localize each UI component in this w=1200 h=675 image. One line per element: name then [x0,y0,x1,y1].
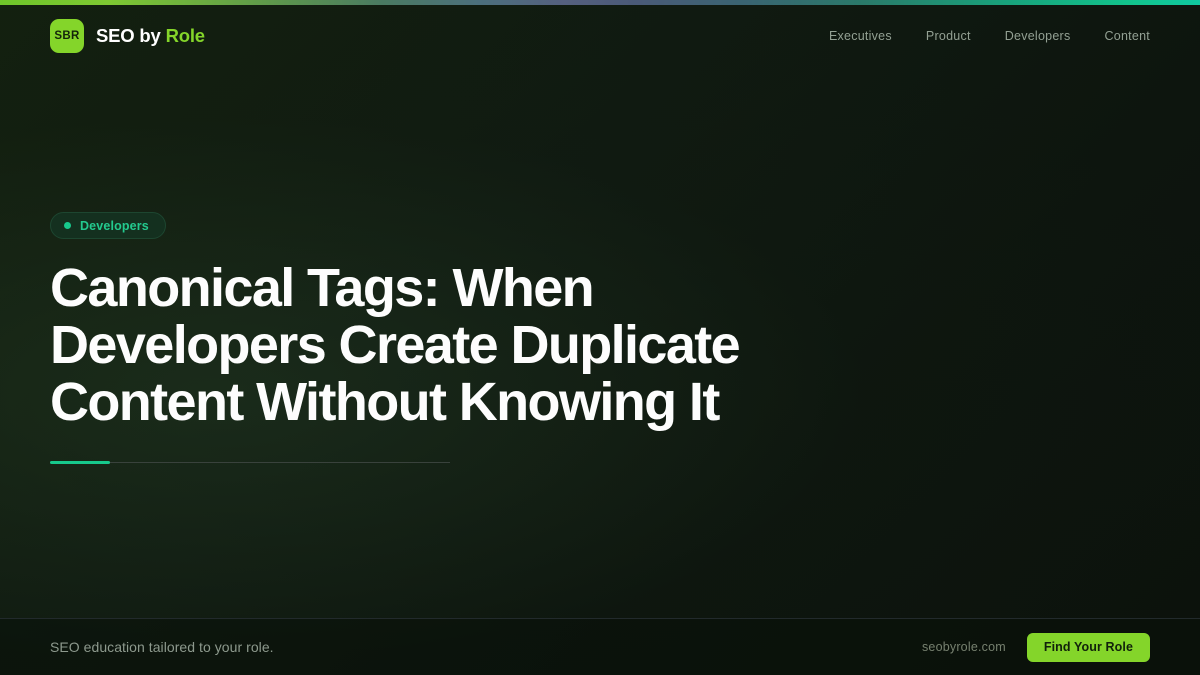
title-divider [50,462,450,463]
brand-name-accent: Role [166,25,205,46]
slide-root: SBR SEO by Role Executives Product Devel… [0,0,1200,675]
brand-logo[interactable]: SBR SEO by Role [50,19,205,53]
footer-domain: seobyrole.com [922,640,1006,654]
status-dot-icon [64,222,71,229]
brand-badge-icon: SBR [50,19,84,53]
nav-item-content[interactable]: Content [1104,29,1150,43]
category-badge[interactable]: Developers [50,212,166,239]
hero-content: Developers Canonical Tags: When Develope… [50,212,1050,463]
site-footer: SEO education tailored to your role. seo… [0,618,1200,675]
main-navigation: Executives Product Developers Content [829,29,1150,43]
nav-item-executives[interactable]: Executives [829,29,892,43]
find-your-role-button[interactable]: Find Your Role [1027,633,1150,662]
brand-wordmark: SEO by Role [96,25,205,47]
footer-tagline: SEO education tailored to your role. [50,639,274,655]
category-badge-label: Developers [80,219,149,233]
nav-item-product[interactable]: Product [926,29,971,43]
footer-actions: seobyrole.com Find Your Role [922,633,1150,662]
brand-name-primary: SEO by [96,25,161,46]
site-header: SBR SEO by Role Executives Product Devel… [0,5,1200,67]
page-title: Canonical Tags: When Developers Create D… [50,260,880,431]
nav-item-developers[interactable]: Developers [1005,29,1071,43]
